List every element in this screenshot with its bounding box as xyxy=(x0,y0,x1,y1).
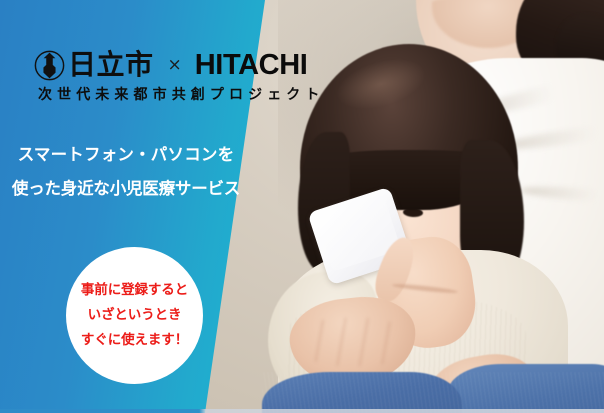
badge-line-1: 事前に登録すると xyxy=(81,278,188,303)
badge-line-2: いざというとき xyxy=(88,303,182,328)
promo-banner: 日立市 × HITACHI 次世代未来都市共創プロジェクト スマートフォン・パソ… xyxy=(0,0,604,413)
logo-row: 日立市 × HITACHI xyxy=(34,46,307,84)
registration-badge: 事前に登録すると いざというとき すぐに使えます！ xyxy=(66,247,203,384)
headline: スマートフォン・パソコンを 使った身近な小児医療サービス xyxy=(0,138,252,206)
hitachi-city-emblem-icon xyxy=(34,50,65,81)
badge-line-3: すぐに使えます！ xyxy=(81,328,188,353)
multiply-separator-icon: × xyxy=(168,57,182,74)
headline-line-2: 使った身近な小児医療サービス xyxy=(0,172,252,206)
bottom-edge-band xyxy=(0,409,604,413)
hitachi-brand-label: HITACHI xyxy=(195,51,308,80)
headline-line-1: スマートフォン・パソコンを xyxy=(0,138,252,172)
project-tagline: 次世代未来都市共創プロジェクト xyxy=(38,84,325,104)
city-name-label: 日立市 xyxy=(68,51,154,79)
denim-texture xyxy=(262,372,604,413)
mother-hand-knuckles xyxy=(300,318,406,366)
